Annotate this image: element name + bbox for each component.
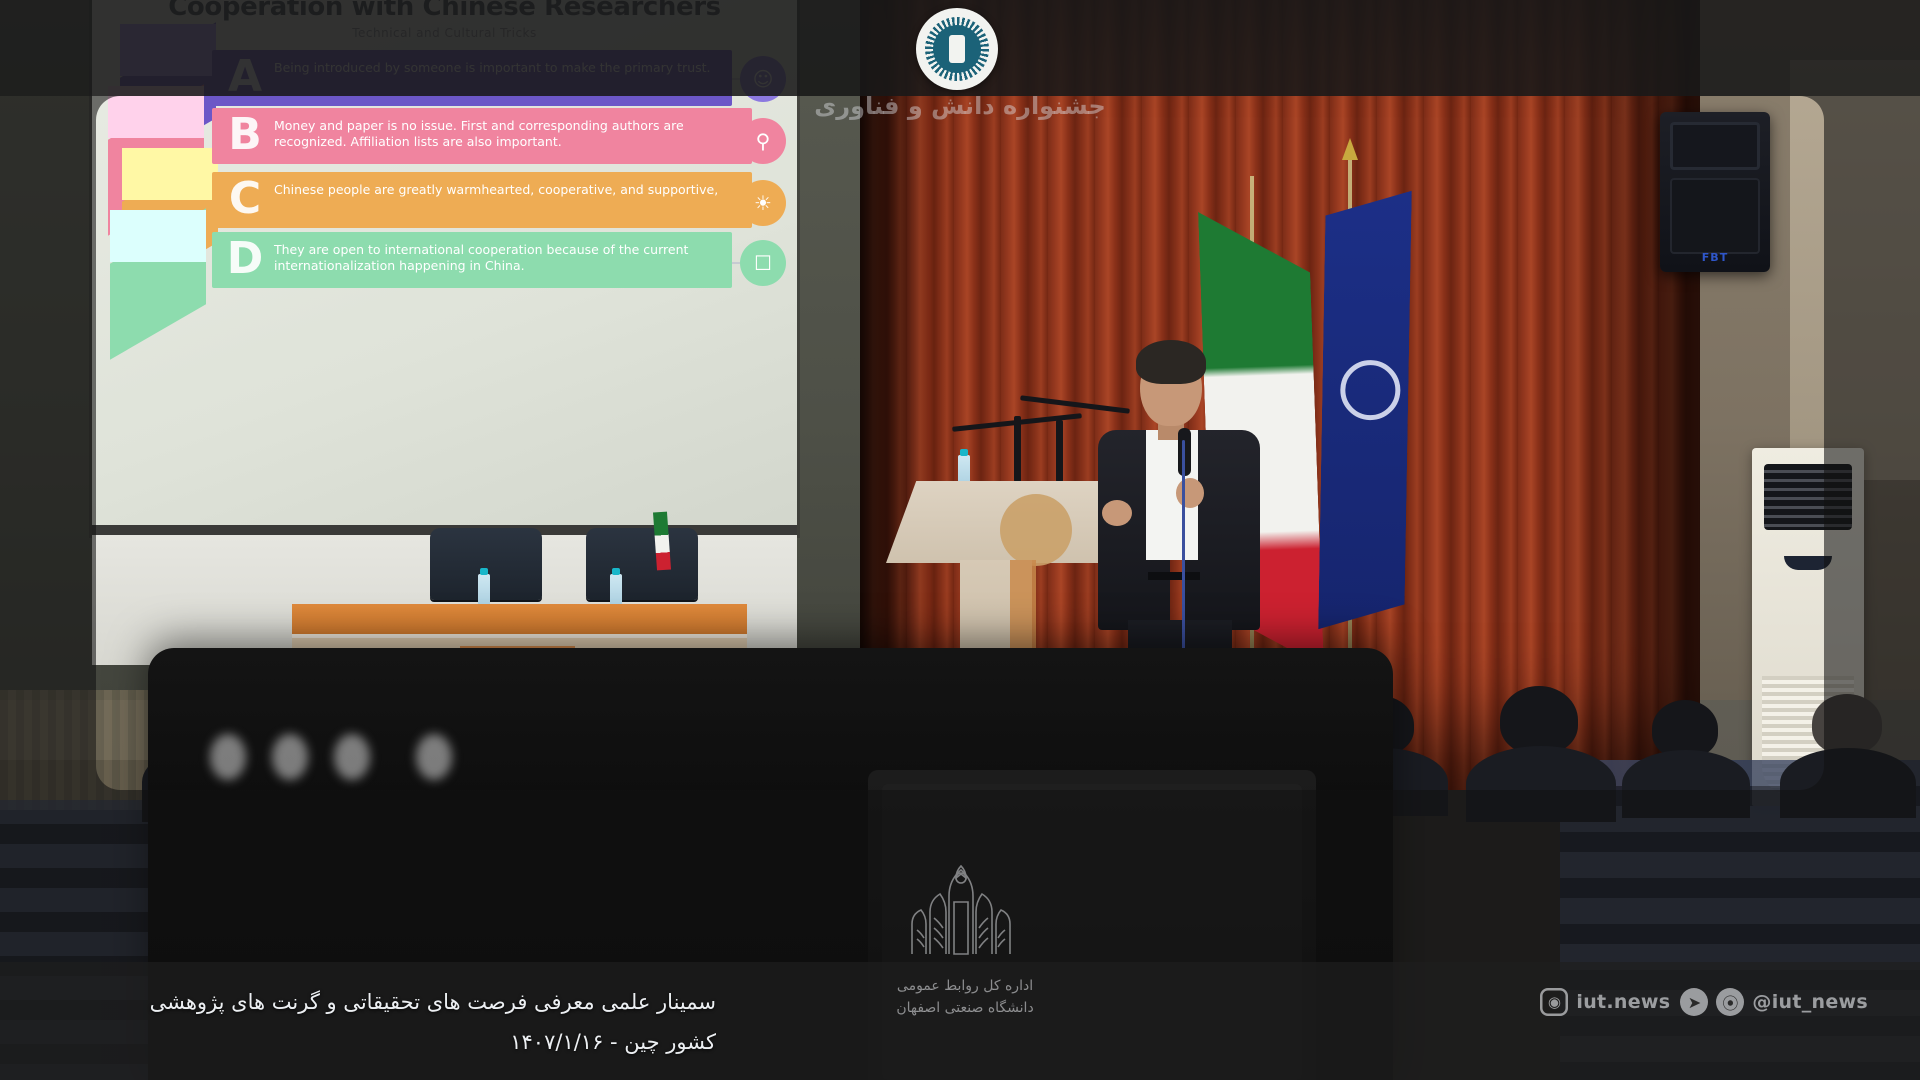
instagram-handle: iut.news <box>1576 991 1670 1013</box>
slide-item-b-letter: B <box>216 114 274 156</box>
presenter-hand-left <box>1102 500 1132 526</box>
social-handles: ◉ iut.news ➤ ⦿ @iut_news <box>1540 982 1868 1022</box>
public-relations-caption: اداره کل روابط عمومی دانشگاه صنعتی اصفها… <box>830 976 1100 1019</box>
pr-line-2: دانشگاه صنعتی اصفهان <box>830 998 1100 1020</box>
messaging-handle: @iut_news <box>1752 991 1868 1013</box>
slide-item-c: C Chinese people are greatly warmhearted… <box>212 172 752 228</box>
instagram-icon[interactable]: ◉ <box>1540 988 1568 1016</box>
messaging-group[interactable]: ➤ ⦿ @iut_news <box>1680 988 1868 1016</box>
iut-seal-icon <box>916 8 998 90</box>
iut-flag <box>1318 189 1412 630</box>
water-bottle <box>478 574 490 608</box>
iut-flag-seal-icon <box>1340 360 1401 421</box>
presenter-hair <box>1136 340 1206 384</box>
panel-table-top <box>292 604 747 638</box>
telegram-icon[interactable]: ➤ <box>1680 988 1708 1016</box>
presenter-belt <box>1148 572 1200 580</box>
auditorium-wall-right-panel <box>1790 60 1920 480</box>
pr-line-1: اداره کل روابط عمومی <box>830 976 1100 998</box>
festival-title: جشنواره دانش و فناوری <box>0 92 1920 120</box>
public-relations-building-logo <box>886 856 1036 966</box>
podium-emblem <box>1000 494 1072 566</box>
pa-grill <box>1670 178 1760 254</box>
slide-item-c-letter: C <box>216 178 274 220</box>
microphone-stem <box>1056 420 1063 482</box>
ac-vent <box>1764 464 1852 530</box>
pa-horn <box>1670 122 1760 170</box>
panel-chair <box>586 528 698 600</box>
slide-item-d-text: They are open to international cooperati… <box>274 238 722 273</box>
slide-item-d: D They are open to international coopera… <box>212 232 732 288</box>
flag-finial <box>1342 138 1358 160</box>
event-caption: سمینار علمی معرفی فرصت های تحقیقاتی و گر… <box>96 982 716 1022</box>
slide-item-c-text: Chinese people are greatly warmhearted, … <box>274 178 718 198</box>
bale-icon[interactable]: ⦿ <box>1716 988 1744 1016</box>
presenter-hand-right <box>1176 478 1204 508</box>
ac-display <box>1784 556 1832 570</box>
book-icon: ☐ <box>740 240 786 286</box>
pa-brand-label: FBT <box>1660 251 1770 264</box>
slide-item-d-letter: D <box>216 238 274 280</box>
pa-loudspeaker: FBT <box>1660 112 1770 272</box>
water-bottle <box>610 574 622 608</box>
instagram-group[interactable]: ◉ iut.news <box>1540 988 1670 1016</box>
microphone-stem <box>1014 416 1021 482</box>
seminar-photo-stage: Cooperation with Chinese Researchers Tec… <box>0 0 1920 1080</box>
